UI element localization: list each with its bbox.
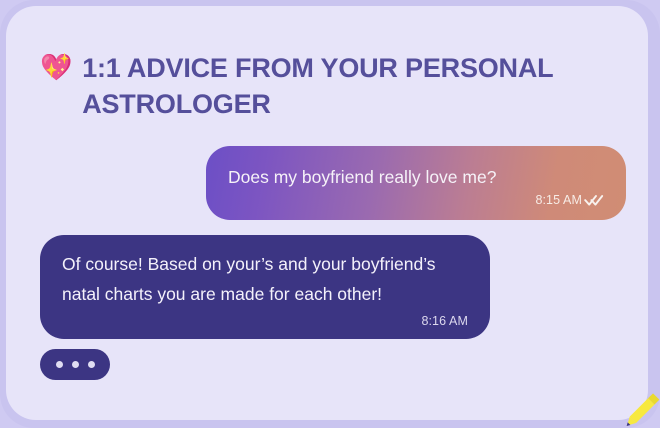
double-check-icon [584,193,604,207]
message-row-incoming: Of course! Based on your’s and your boyf… [6,220,648,339]
message-timestamp: 8:15 AM [535,193,582,207]
message-meta: 8:16 AM [62,311,468,331]
chat-widget-frame: 💖 1:1 ADVICE FROM YOUR PERSONAL ASTROLOG… [0,0,660,428]
message-bubble-outgoing[interactable]: Does my boyfriend really love me? 8:15 A… [206,146,626,220]
message-bubble-incoming[interactable]: Of course! Based on your’s and your boyf… [40,235,490,339]
message-row-outgoing: Does my boyfriend really love me? 8:15 A… [6,146,648,220]
typing-dot [88,361,95,368]
typing-dot [72,361,79,368]
page-title-label: 1:1 ADVICE FROM YOUR PERSONAL ASTROLOGER [82,50,610,122]
message-text: Does my boyfriend really love me? [228,162,604,192]
message-row-typing [6,349,648,380]
message-timestamp: 8:16 AM [421,314,468,328]
typing-indicator [40,349,110,380]
typing-dot [56,361,63,368]
message-meta: 8:15 AM [228,190,604,210]
message-text: Of course! Based on your’s and your boyf… [62,249,468,309]
conversation-thread: Does my boyfriend really love me? 8:15 A… [6,146,648,380]
sparkling-heart-emoji: 💖 [40,50,72,84]
page-title: 💖 1:1 ADVICE FROM YOUR PERSONAL ASTROLOG… [40,50,610,122]
chat-card: 💖 1:1 ADVICE FROM YOUR PERSONAL ASTROLOG… [6,6,648,420]
